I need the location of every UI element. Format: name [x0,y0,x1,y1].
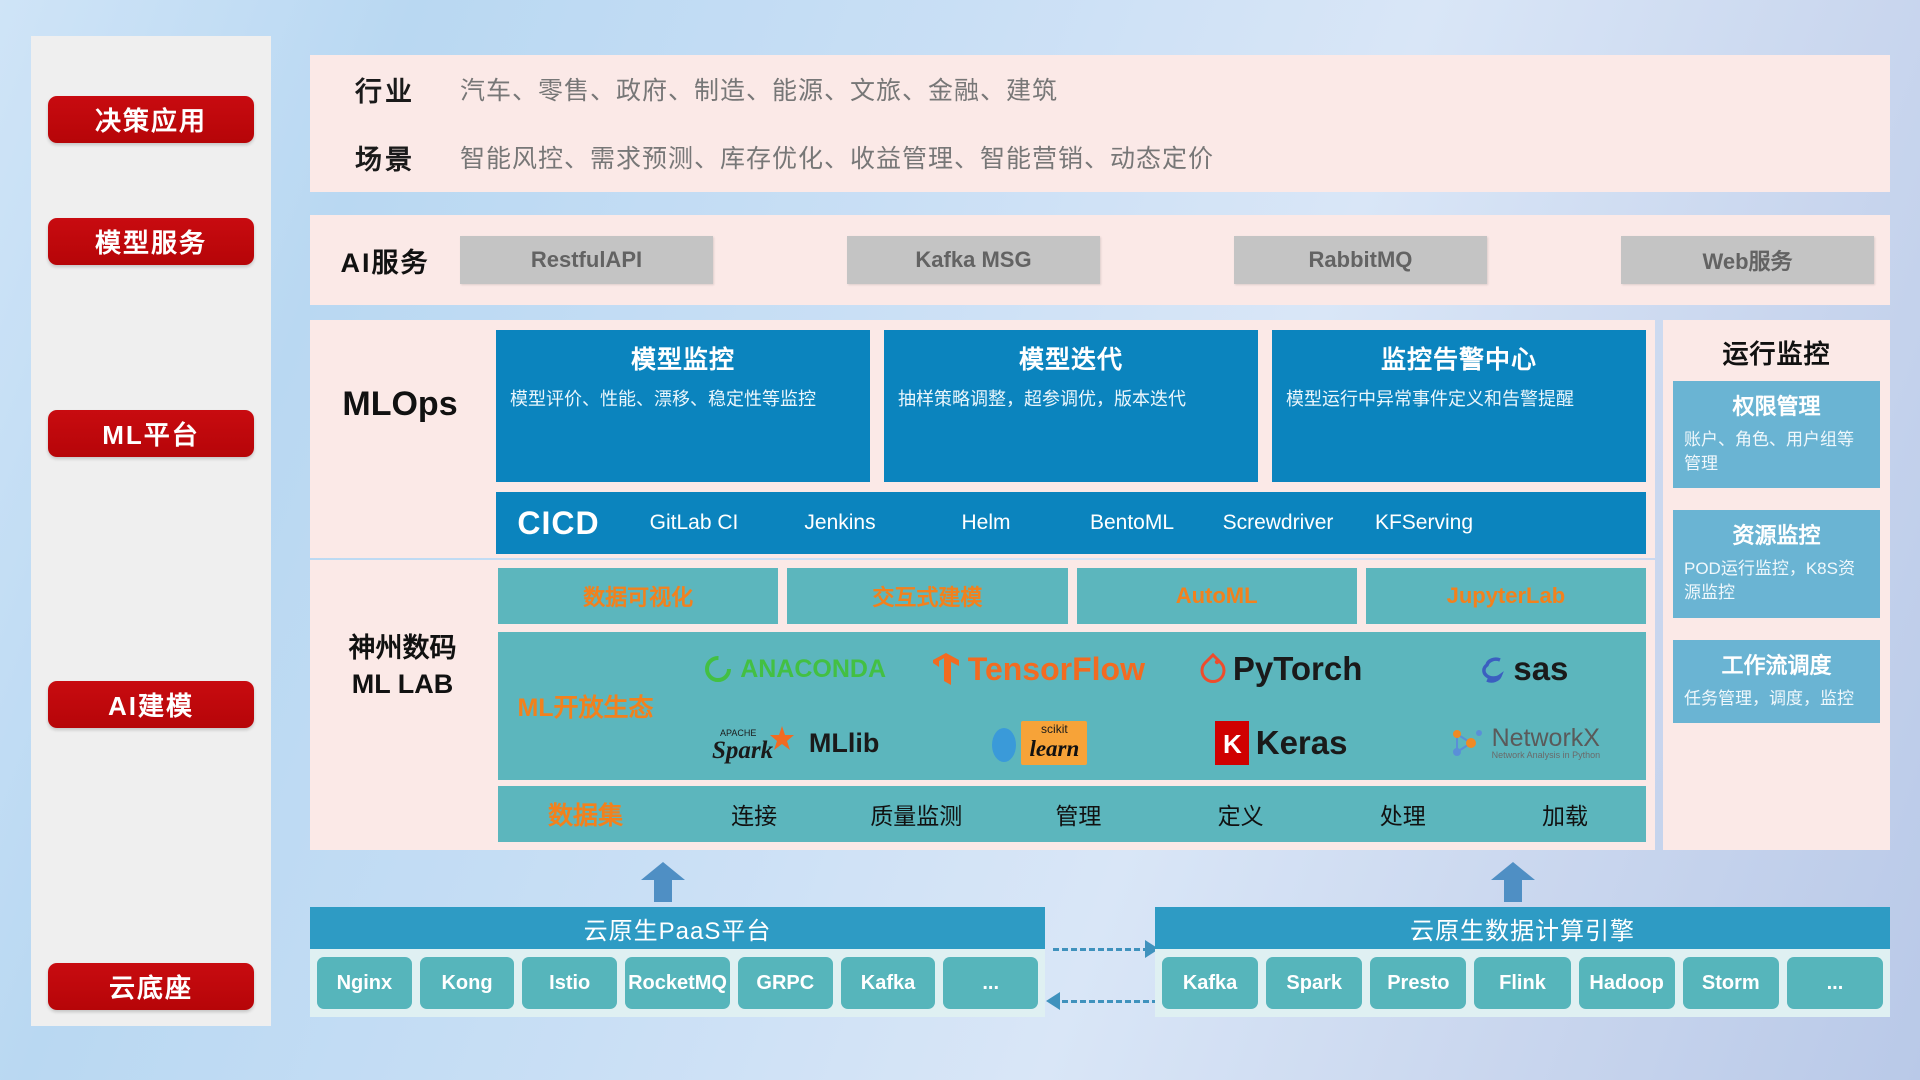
cicd-item-jenkins[interactable]: Jenkins [767,512,913,534]
tool-data-visualization[interactable]: 数据可视化 [498,568,778,624]
monitoring-card-title: 权限管理 [1684,389,1869,421]
scenario-value: 智能风控、需求预测、库存优化、收益管理、智能营销、动态定价 [460,139,1214,175]
layer-chip-label: ML平台 [102,415,200,452]
cloud-chip-kong[interactable]: Kong [420,957,515,1009]
scikit-learn-logo-text: learn [1029,736,1079,762]
scikit-learn-wordmark: scikit learn [1021,721,1087,765]
monitoring-card-desc: 账户、角色、用户组等管理 [1684,428,1869,476]
pytorch-logo: PyTorch [1200,650,1363,688]
dashed-link-right [1053,948,1149,951]
cloud-engine-group: 云原生数据计算引擎 Kafka Spark Presto Flink Hadoo… [1155,907,1890,1017]
ai-service-label: AI服务 [310,241,460,280]
mlops-card-title: 模型监控 [510,340,856,376]
dataset-row: 数据集 连接 质量监测 管理 定义 处理 加载 [498,786,1646,842]
spark-icon: APACHE Spark [710,722,802,764]
monitoring-card-workflow[interactable]: 工作流调度 任务管理，调度，监控 [1673,640,1880,723]
mlops-card-model-monitor[interactable]: 模型监控 模型评价、性能、漂移、稳定性等监控 [496,330,870,482]
cloud-chip-istio[interactable]: Istio [522,957,617,1009]
cicd-item-helm[interactable]: Helm [913,512,1059,534]
mlops-label: MLOps [310,320,490,488]
cloud-chip-grpc[interactable]: GRPC [738,957,833,1009]
mlops-card-desc: 抽样策略调整，超参调优，版本迭代 [898,386,1244,412]
pytorch-logo-text: PyTorch [1233,650,1363,688]
sas-logo: sas [1480,650,1568,688]
tensorflow-icon [931,651,961,687]
layer-rail: 决策应用 模型服务 ML平台 AI建模 云底座 [31,36,271,1026]
dataset-item-manage[interactable]: 管理 [997,797,1159,831]
decision-app-panel: 行业 汽车、零售、政府、制造、能源、文旅、金融、建筑 场景 智能风控、需求预测、… [310,55,1890,192]
dataset-item-process[interactable]: 处理 [1322,797,1484,831]
layer-chip-ai-modeling[interactable]: AI建模 [48,681,254,728]
cloud-chip-nginx[interactable]: Nginx [317,957,412,1009]
industry-value: 汽车、零售、政府、制造、能源、文旅、金融、建筑 [460,71,1058,107]
keras-logo: K Keras [1215,721,1348,765]
cloud-chip-kafka[interactable]: Kafka [841,957,936,1009]
layer-chip-label: 模型服务 [95,223,207,260]
layer-chip-model-service[interactable]: 模型服务 [48,218,254,265]
ai-service-chip-restfulapi[interactable]: RestfulAPI [460,236,713,284]
cloud-engine-chip-list: Kafka Spark Presto Flink Hadoop Storm ..… [1155,949,1890,1017]
spark-mllib-logo-text: MLlib [809,728,879,759]
engine-chip-flink[interactable]: Flink [1474,957,1570,1009]
monitoring-card-title: 资源监控 [1684,518,1869,550]
layer-chip-label: 云底座 [109,968,193,1005]
layer-chip-ml-platform[interactable]: ML平台 [48,410,254,457]
tool-jupyterlab[interactable]: JupyterLab [1366,568,1646,624]
cloud-chip-more[interactable]: ... [943,957,1038,1009]
architecture-diagram: 决策应用 模型服务 ML平台 AI建模 云底座 行业 汽车、零售、政府、制造、能… [0,0,1920,1080]
ai-service-chip-list: RestfulAPI Kafka MSG RabbitMQ Web服务 [460,236,1890,284]
cicd-item-kfserving[interactable]: KFServing [1351,512,1497,534]
sas-logo-text: sas [1513,650,1568,688]
mlops-panel: MLOps 模型监控 模型评价、性能、漂移、稳定性等监控 模型迭代 抽样策略调整… [310,320,1655,558]
scenario-row: 场景 智能风控、需求预测、库存优化、收益管理、智能营销、动态定价 [310,123,1890,191]
cicd-item-list: GitLab CI Jenkins Helm BentoML Screwdriv… [621,512,1646,534]
svg-text:Spark: Spark [712,737,774,764]
dataset-item-connect[interactable]: 连接 [673,797,835,831]
ai-modeling-panel: 神州数码 ML LAB 数据可视化 交互式建模 AutoML JupyterLa… [310,560,1655,850]
networkx-tagline: Network Analysis in Python [1492,751,1601,760]
cloud-paas-group: 云原生PaaS平台 Nginx Kong Istio RocketMQ GRPC… [310,907,1045,1017]
ai-service-chip-rabbitmq[interactable]: RabbitMQ [1234,236,1487,284]
engine-chip-presto[interactable]: Presto [1370,957,1466,1009]
scikit-learn-logo: scikit learn [988,721,1087,765]
keras-icon: K [1215,721,1249,765]
layer-chip-cloud-base[interactable]: 云底座 [48,963,254,1010]
industry-row: 行业 汽车、零售、政府、制造、能源、文旅、金融、建筑 [310,55,1890,123]
ml-ecosystem-title: ML开放生态 [498,688,673,724]
dataset-item-quality[interactable]: 质量监测 [835,797,997,831]
cicd-item-bentoml[interactable]: BentoML [1059,512,1205,534]
runtime-monitoring-title: 运行监控 [1663,320,1890,381]
monitoring-card-desc: POD运行监控，K8S资源监控 [1684,557,1869,605]
ai-service-chip-kafka-msg[interactable]: Kafka MSG [847,236,1100,284]
dataset-title: 数据集 [498,796,673,832]
cicd-item-screwdriver[interactable]: Screwdriver [1205,512,1351,534]
dataset-item-load[interactable]: 加载 [1484,797,1646,831]
monitoring-card-desc: 任务管理，调度，监控 [1684,687,1869,711]
mlops-card-title: 监控告警中心 [1286,340,1632,376]
monitoring-card-resource[interactable]: 资源监控 POD运行监控，K8S资源监控 [1673,510,1880,617]
ai-service-panel: AI服务 RestfulAPI Kafka MSG RabbitMQ Web服务 [310,215,1890,305]
networkx-logo-text: NetworkX [1492,726,1601,751]
svg-text:K: K [1223,729,1242,759]
cloud-engine-title: 云原生数据计算引擎 [1155,907,1890,949]
scenario-label: 场景 [310,138,460,177]
layer-chip-label: AI建模 [108,686,194,723]
anaconda-logo: ANACONDA [703,654,886,684]
cloud-chip-rocketmq[interactable]: RocketMQ [625,957,730,1009]
runtime-monitoring-panel: 运行监控 权限管理 账户、角色、用户组等管理 资源监控 POD运行监控，K8S资… [1663,320,1890,850]
up-arrow-engine-icon [1491,862,1535,902]
mlops-card-desc: 模型评价、性能、漂移、稳定性等监控 [510,386,856,412]
sas-icon [1480,654,1506,684]
mlops-card-desc: 模型运行中异常事件定义和告警提醒 [1286,386,1632,412]
engine-chip-kafka[interactable]: Kafka [1162,957,1258,1009]
scikit-text: scikit [1029,722,1079,736]
engine-chip-more[interactable]: ... [1787,957,1883,1009]
monitoring-card-title: 工作流调度 [1684,648,1869,680]
ai-service-chip-web[interactable]: Web服务 [1621,236,1874,284]
ml-lab-label-en: ML LAB [310,666,495,702]
mlops-card-model-iteration[interactable]: 模型迭代 抽样策略调整，超参调优，版本迭代 [884,330,1258,482]
tool-automl[interactable]: AutoML [1077,568,1357,624]
mlops-card-title: 模型迭代 [898,340,1244,376]
industry-label: 行业 [310,70,460,109]
up-arrow-paas-icon [641,862,685,902]
engine-chip-spark[interactable]: Spark [1266,957,1362,1009]
mlops-card-alert-center[interactable]: 监控告警中心 模型运行中异常事件定义和告警提醒 [1272,330,1646,482]
ml-ecosystem-logo-grid: ANACONDA TensorFlow PyTorch [673,632,1646,780]
networkx-icon [1449,725,1485,761]
engine-chip-hadoop[interactable]: Hadoop [1579,957,1675,1009]
keras-logo-text: Keras [1256,724,1348,762]
anaconda-logo-text: ANACONDA [740,655,886,684]
layer-chip-label: 决策应用 [95,101,207,138]
networkx-logo: NetworkX Network Analysis in Python [1449,725,1601,761]
monitoring-card-permission[interactable]: 权限管理 账户、角色、用户组等管理 [1673,381,1880,488]
cloud-paas-chip-list: Nginx Kong Istio RocketMQ GRPC Kafka ... [310,949,1045,1017]
ml-lab-label-cn: 神州数码 [310,630,495,666]
dataset-item-list: 连接 质量监测 管理 定义 处理 加载 [673,797,1646,831]
tensorflow-logo-text: TensorFlow [968,651,1145,688]
dataset-item-define[interactable]: 定义 [1160,797,1322,831]
cicd-item-gitlab-ci[interactable]: GitLab CI [621,512,767,534]
cloud-paas-title: 云原生PaaS平台 [310,907,1045,949]
tensorflow-logo: TensorFlow [931,651,1145,688]
layer-chip-decision-app[interactable]: 决策应用 [48,96,254,143]
tool-interactive-modeling[interactable]: 交互式建模 [787,568,1067,624]
ml-lab-label: 神州数码 ML LAB [310,630,495,703]
cicd-bar: CICD GitLab CI Jenkins Helm BentoML Scre… [496,492,1646,554]
anaconda-icon [703,654,733,684]
cicd-title: CICD [496,505,621,542]
modeling-tool-list: 数据可视化 交互式建模 AutoML JupyterLab [498,568,1646,624]
engine-chip-storm[interactable]: Storm [1683,957,1779,1009]
dashed-arrowhead-left-icon [1046,992,1060,1010]
pytorch-icon [1200,653,1226,685]
ml-ecosystem-box: ML开放生态 ANACONDA TensorFlow [498,632,1646,780]
networkx-wordmark: NetworkX Network Analysis in Python [1492,726,1601,760]
spark-mllib-logo: APACHE Spark MLlib [710,722,879,764]
mlops-card-list: 模型监控 模型评价、性能、漂移、稳定性等监控 模型迭代 抽样策略调整，超参调优，… [496,330,1646,482]
dashed-link-left [1062,1000,1158,1003]
